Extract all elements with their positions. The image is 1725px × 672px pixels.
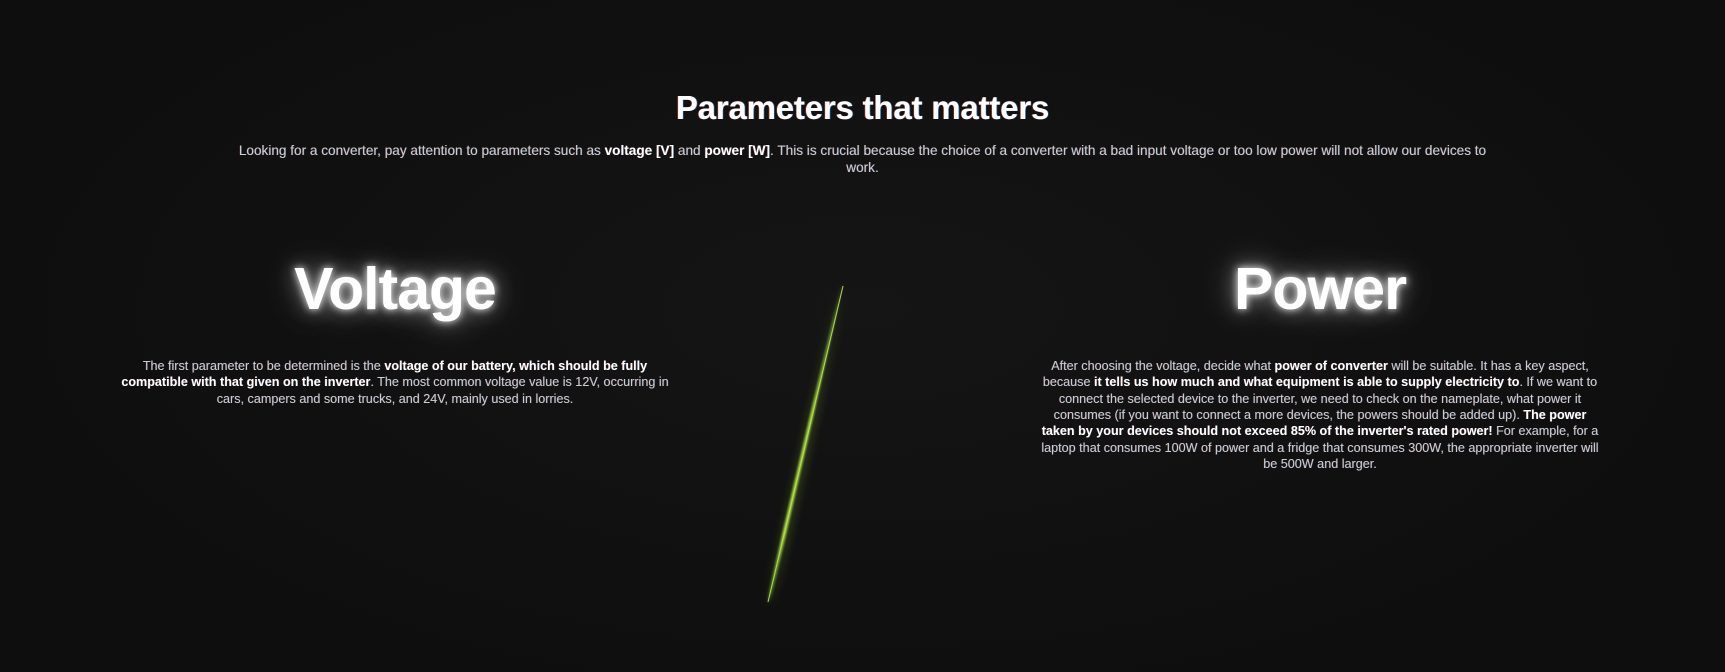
- column-power: Power After choosing the voltage, decide…: [1010, 258, 1630, 473]
- intro-text-2: and: [674, 143, 704, 158]
- intro-bold-voltage: voltage [V]: [605, 143, 675, 158]
- voltage-body: The first parameter to be determined is …: [115, 358, 675, 407]
- column-voltage: Voltage The first parameter to be determ…: [85, 258, 705, 407]
- intro-bold-power: power [W]: [704, 143, 770, 158]
- voltage-heading: Voltage: [85, 258, 705, 322]
- intro-paragraph: Looking for a converter, pay attention t…: [228, 142, 1498, 176]
- header-section: Parameters that matters Looking for a co…: [0, 0, 1725, 176]
- voltage-text-1: The first parameter to be determined is …: [143, 359, 385, 373]
- page-title: Parameters that matters: [0, 88, 1725, 128]
- power-heading: Power: [1010, 258, 1630, 322]
- power-body: After choosing the voltage, decide what …: [1040, 358, 1600, 473]
- page-root: Parameters that matters Looking for a co…: [0, 0, 1725, 672]
- columns-section: Voltage The first parameter to be determ…: [0, 258, 1725, 672]
- power-bold-2: it tells us how much and what equipment …: [1094, 375, 1519, 389]
- intro-text-3: . This is crucial because the choice of …: [770, 143, 1486, 175]
- intro-text-1: Looking for a converter, pay attention t…: [239, 143, 605, 158]
- power-text-1: After choosing the voltage, decide what: [1051, 359, 1274, 373]
- power-bold-1: power of converter: [1275, 359, 1388, 373]
